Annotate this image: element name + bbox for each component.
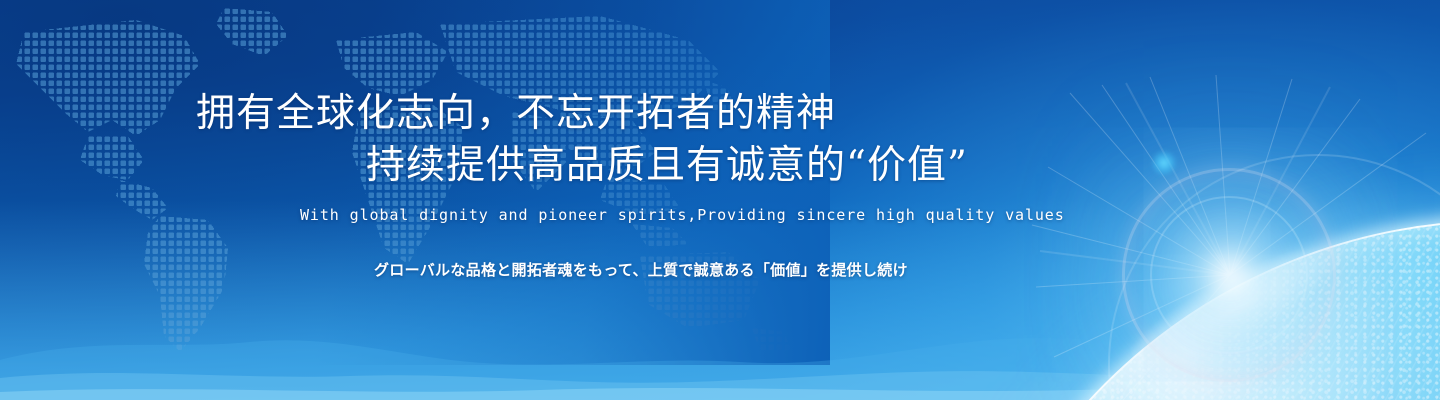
banner-copy: 拥有全球化志向，不忘开拓者的精神 持续提供高品质且有诚意的“价值” With g… [0,0,1060,400]
lens-flare-orb-icon [1151,150,1177,176]
subtitle-english: With global dignity and pioneer spirits,… [300,206,1065,224]
hero-banner: 拥有全球化志向，不忘开拓者的精神 持续提供高品质且有诚意的“价值” With g… [0,0,1440,400]
headline-line-2: 持续提供高品质且有诚意的“价值” [196,140,968,192]
lens-flare-ring-inner [1150,196,1308,354]
subtitle-japanese: グローバルな品格と開拓者魂をもって、上質で誠意ある「価値」を提供し続け [374,259,908,280]
page-title: 拥有全球化志向，不忘开拓者的精神 持续提供高品质且有诚意的“价值” [196,88,968,192]
headline-line-1: 拥有全球化志向，不忘开拓者的精神 [196,91,836,136]
